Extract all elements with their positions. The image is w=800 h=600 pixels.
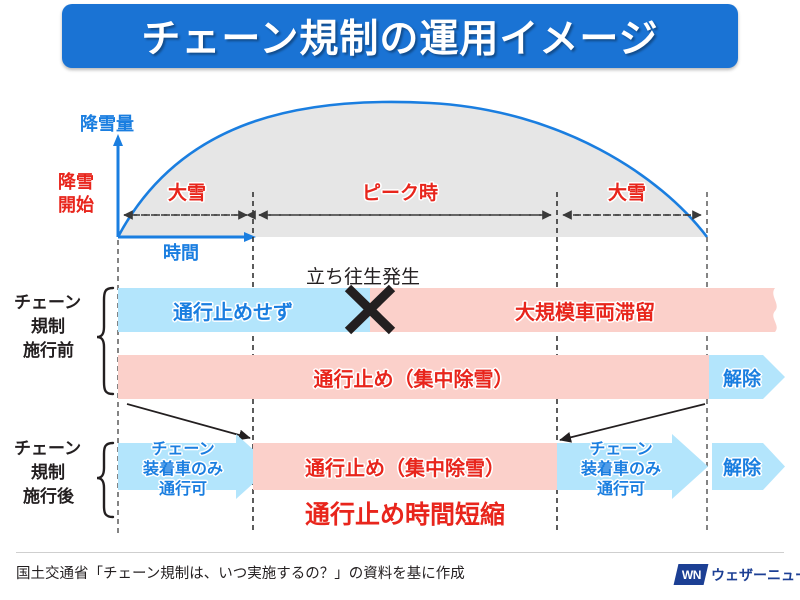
bracket-label-before-line3: 施行前	[23, 336, 74, 361]
phase-label-heavy-snow-2: 大雪	[608, 178, 646, 205]
label-no-closure: 通行止めせず	[118, 288, 348, 332]
bracket-after	[97, 443, 113, 517]
label-chain-right-line3: 通行可	[560, 477, 682, 497]
bracket-label-after-line2: 規制	[31, 458, 65, 483]
source-credit: 国土交通省「チェーン規制は、いつ実施するの？」の資料を基に作成	[16, 562, 465, 583]
snowfall-area	[118, 102, 707, 237]
label-chain-right-line1: チェーン	[560, 437, 682, 457]
weathernews-logo: WN ウェザーニュース	[676, 564, 800, 585]
label-release-before: 解除	[714, 355, 770, 399]
wn-mark-text: WN	[682, 568, 701, 582]
wn-mark-icon: WN	[674, 564, 709, 585]
label-chain-right-line2: 装着車のみ	[560, 457, 682, 477]
bracket-label-after-line1: チェーン	[14, 434, 81, 459]
x-axis-label: 時間	[163, 239, 199, 265]
phase-label-peak: ピーク時	[362, 178, 438, 205]
label-chain-left-line3: 通行可	[122, 477, 244, 497]
label-chain-left-line2: 装着車のみ	[122, 457, 244, 477]
label-closure-before: 通行止め（集中除雪）	[118, 355, 709, 399]
label-closure-after: 通行止め（集中除雪）	[253, 443, 557, 490]
snow-start-label-line2: 開始	[58, 191, 94, 217]
bracket-label-after-line3: 施行後	[23, 482, 74, 507]
footer-divider	[16, 552, 784, 553]
label-closure-time-reduced: 通行止め時間短縮	[253, 496, 557, 530]
bracket-before	[97, 288, 113, 394]
bracket-label-before-line2: 規制	[31, 312, 65, 337]
infographic-root: チェーン規制の運用イメージ	[0, 0, 800, 600]
bracket-label-before-line1: チェーン	[14, 288, 81, 313]
phase-label-heavy-snow-1: 大雪	[168, 178, 206, 205]
label-large-scale-congestion: 大規模車両滞留	[400, 288, 770, 332]
stuck-vehicle-label: 立ち往生発生	[306, 262, 420, 289]
connector-arrow-left	[127, 404, 250, 438]
label-chain-left-line1: チェーン	[122, 437, 244, 457]
y-axis-label: 降雪量	[80, 110, 134, 136]
label-release-after: 解除	[714, 443, 770, 490]
wn-brand-name: ウェザーニュース	[711, 565, 800, 585]
